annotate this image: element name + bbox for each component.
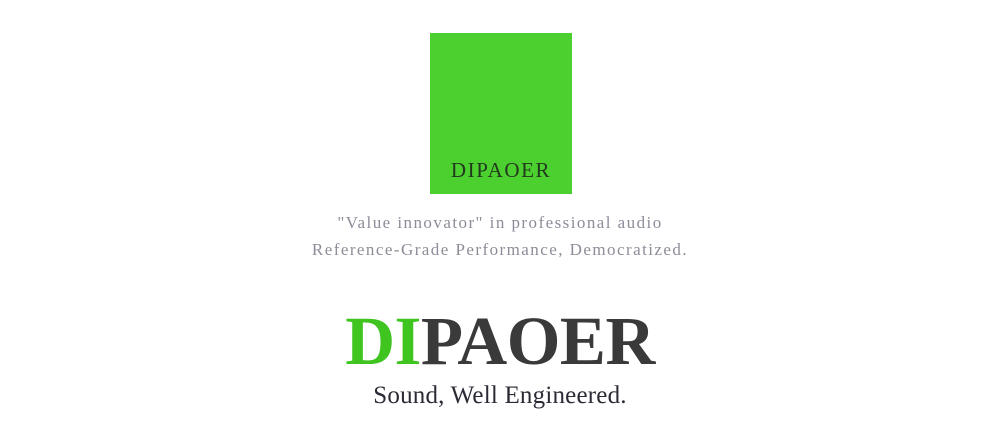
brand-slogan: Sound, Well Engineered. [0, 381, 1000, 411]
tagline-block: "Value innovator" in professional audio … [0, 209, 1000, 263]
wordmark-remaining-letters: PAOER [421, 303, 655, 379]
logo-square-mark: DIPAOER [430, 33, 572, 194]
brand-wordmark: DIPAOER [0, 305, 1000, 377]
tagline-line-2: Reference-Grade Performance, Democratize… [0, 236, 1000, 263]
tagline-line-1: "Value innovator" in professional audio [0, 209, 1000, 236]
wordmark-accent-letters: DI [345, 303, 421, 379]
brand-card-page: DIPAOER "Value innovator" in professiona… [0, 0, 1000, 437]
logo-square-label: DIPAOER [430, 158, 572, 182]
